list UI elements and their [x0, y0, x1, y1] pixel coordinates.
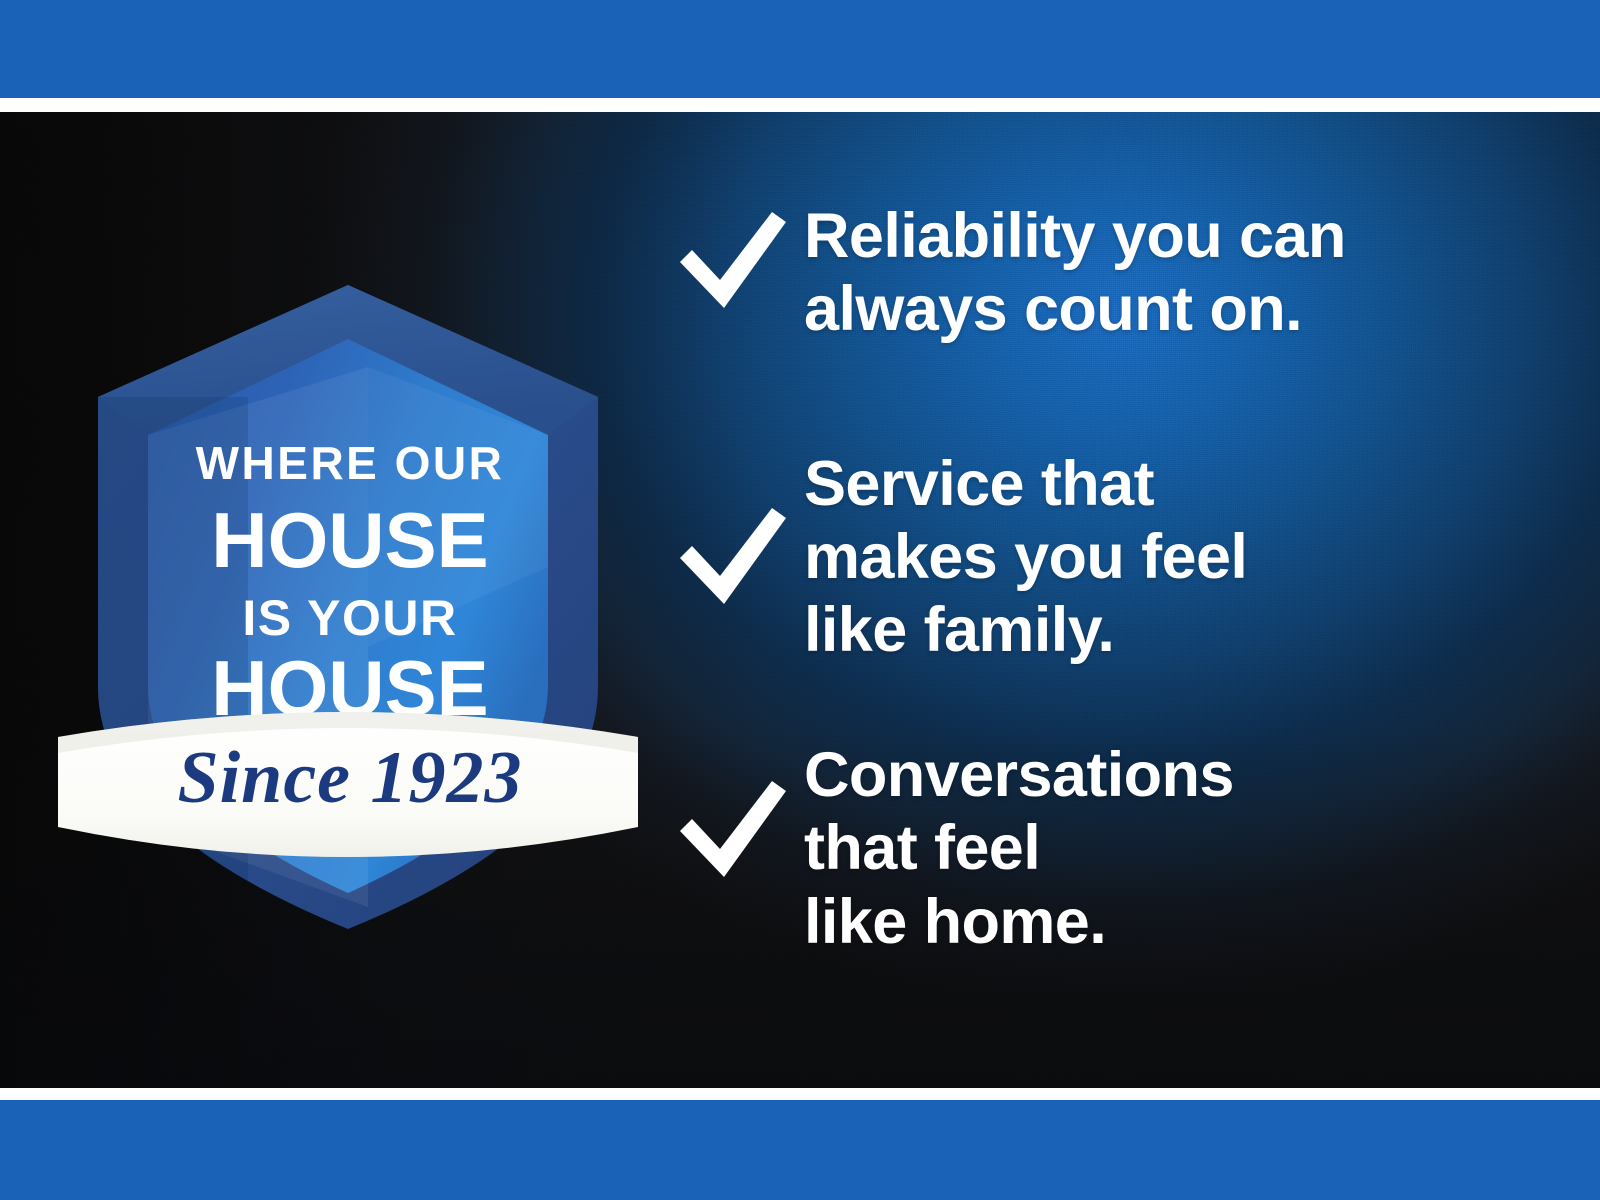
benefit-text: Service that makes you feel like family. — [804, 448, 1552, 667]
benefit-item: Conversations that feel like home. — [672, 739, 1552, 958]
shield-ribbon: Since 1923 — [58, 712, 638, 857]
shield-line-1: WHERE OUR — [196, 437, 505, 489]
top-brand-bar — [0, 0, 1600, 98]
checkmark-icon — [672, 739, 804, 885]
main-stage: WHERE OUR HOUSE IS YOUR HOUSE Since 1923 — [0, 112, 1600, 1088]
top-white-divider — [0, 98, 1600, 112]
ribbon-text: Since 1923 — [177, 737, 522, 819]
shield-badge: WHERE OUR HOUSE IS YOUR HOUSE Since 1923 — [68, 267, 628, 947]
promo-graphic: WHERE OUR HOUSE IS YOUR HOUSE Since 1923 — [0, 0, 1600, 1200]
checkmark-icon — [672, 200, 804, 316]
shield-line-2: HOUSE — [211, 496, 488, 584]
benefit-text: Reliability you can always count on. — [804, 200, 1552, 346]
benefit-item: Service that makes you feel like family. — [672, 448, 1552, 667]
benefits-list: Reliability you can always count on. Ser… — [672, 200, 1552, 959]
shield-line-3: IS YOUR — [242, 590, 457, 646]
bottom-brand-bar — [0, 1100, 1600, 1200]
benefit-text: Conversations that feel like home. — [804, 739, 1552, 958]
bottom-white-divider — [0, 1088, 1600, 1100]
benefit-item: Reliability you can always count on. — [672, 200, 1552, 346]
checkmark-icon — [672, 448, 804, 612]
